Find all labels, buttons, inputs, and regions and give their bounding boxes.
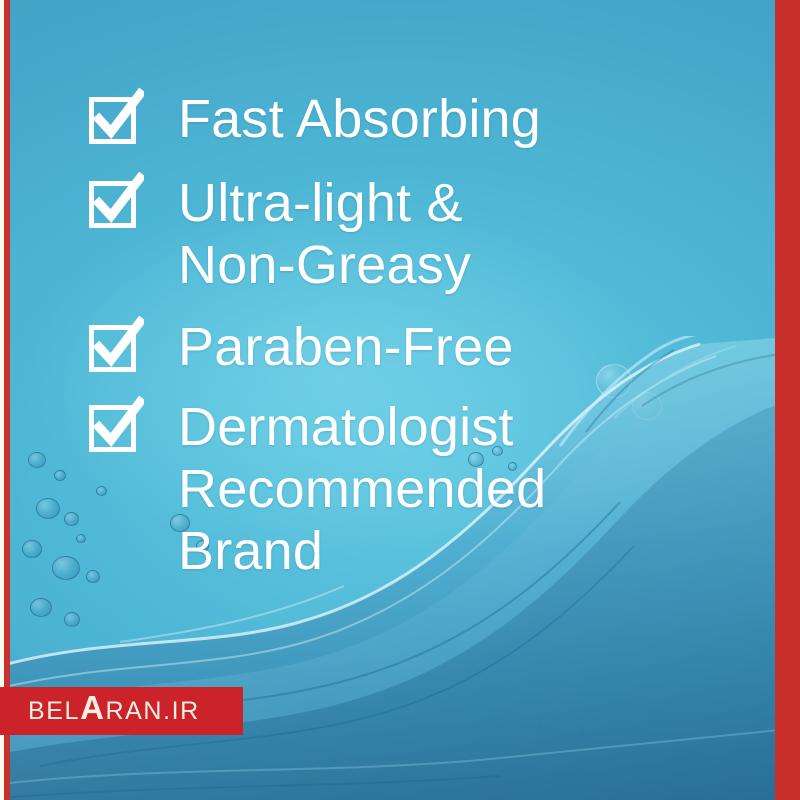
benefit-item: Fast Absorbing (88, 88, 688, 150)
checkbox-checked-icon (88, 88, 144, 150)
benefit-label: Dermatologist Recommended Brand (178, 396, 546, 582)
benefit-label: Paraben-Free (178, 316, 514, 378)
watermark-text: BELARAN.IR (28, 697, 200, 726)
benefit-label: Fast Absorbing (178, 88, 541, 150)
checkbox-checked-icon (88, 172, 144, 234)
benefit-item: Ultra-light & Non-Greasy (88, 172, 688, 296)
watermark-prefix: BEL (28, 697, 80, 726)
checkbox-checked-icon (88, 316, 144, 378)
product-benefits-banner: Fast Absorbing Ultra-light & Non-Greasy … (0, 0, 800, 800)
watermark-suffix: RAN.IR (106, 697, 200, 726)
right-red-band (775, 0, 800, 800)
benefit-label: Ultra-light & Non-Greasy (178, 172, 471, 296)
benefit-item: Dermatologist Recommended Brand (88, 396, 688, 582)
benefit-item: Paraben-Free (88, 316, 688, 378)
left-red-edge (4, 0, 10, 800)
watermark-banner: BELARAN.IR (0, 687, 243, 735)
benefits-list: Fast Absorbing Ultra-light & Non-Greasy … (88, 88, 688, 582)
checkbox-checked-icon (88, 396, 144, 458)
